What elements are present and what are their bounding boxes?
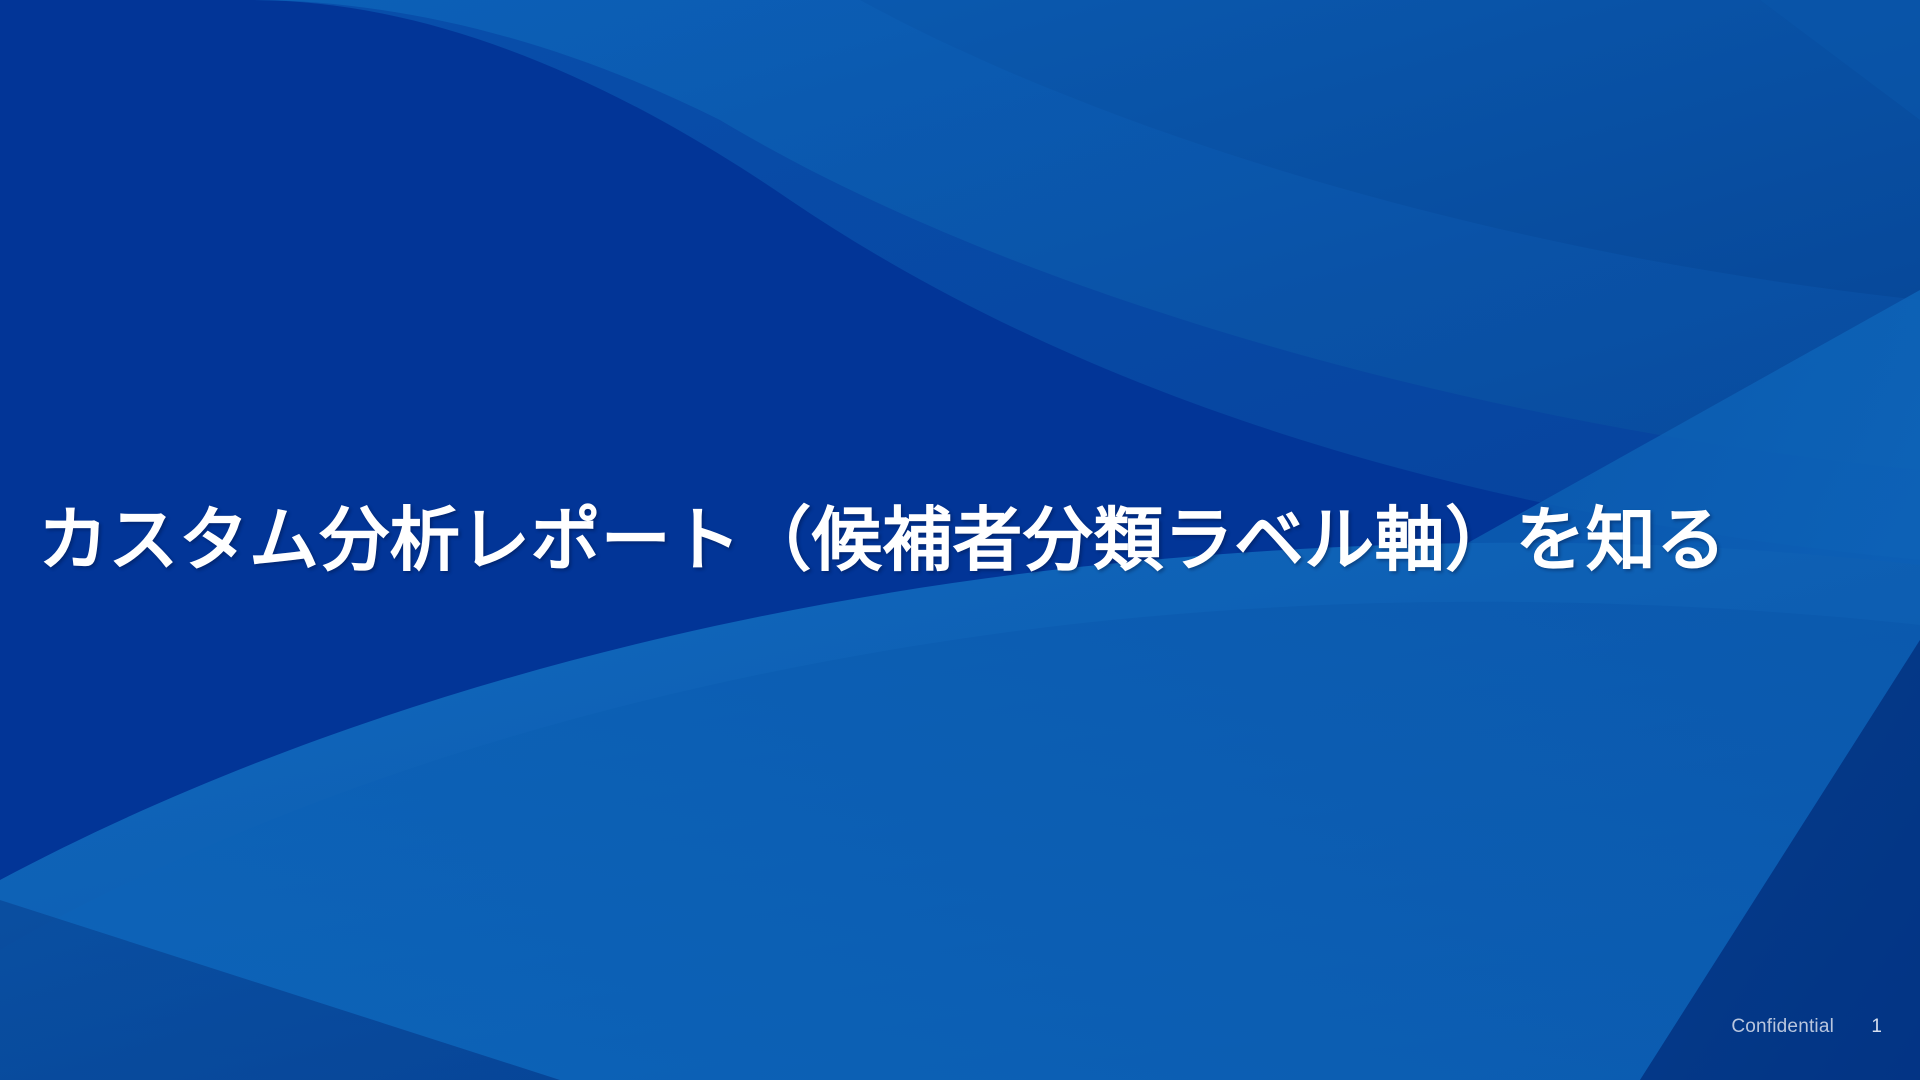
page-number: 1 bbox=[1868, 1016, 1882, 1038]
slide-footer: Confidential 1 bbox=[1731, 1016, 1882, 1038]
confidentiality-label: Confidential bbox=[1731, 1016, 1834, 1038]
background-artwork bbox=[0, 0, 1920, 1080]
title-slide: カスタム分析レポート（候補者分類ラベル軸）を知る Confidential 1 bbox=[0, 0, 1920, 1080]
